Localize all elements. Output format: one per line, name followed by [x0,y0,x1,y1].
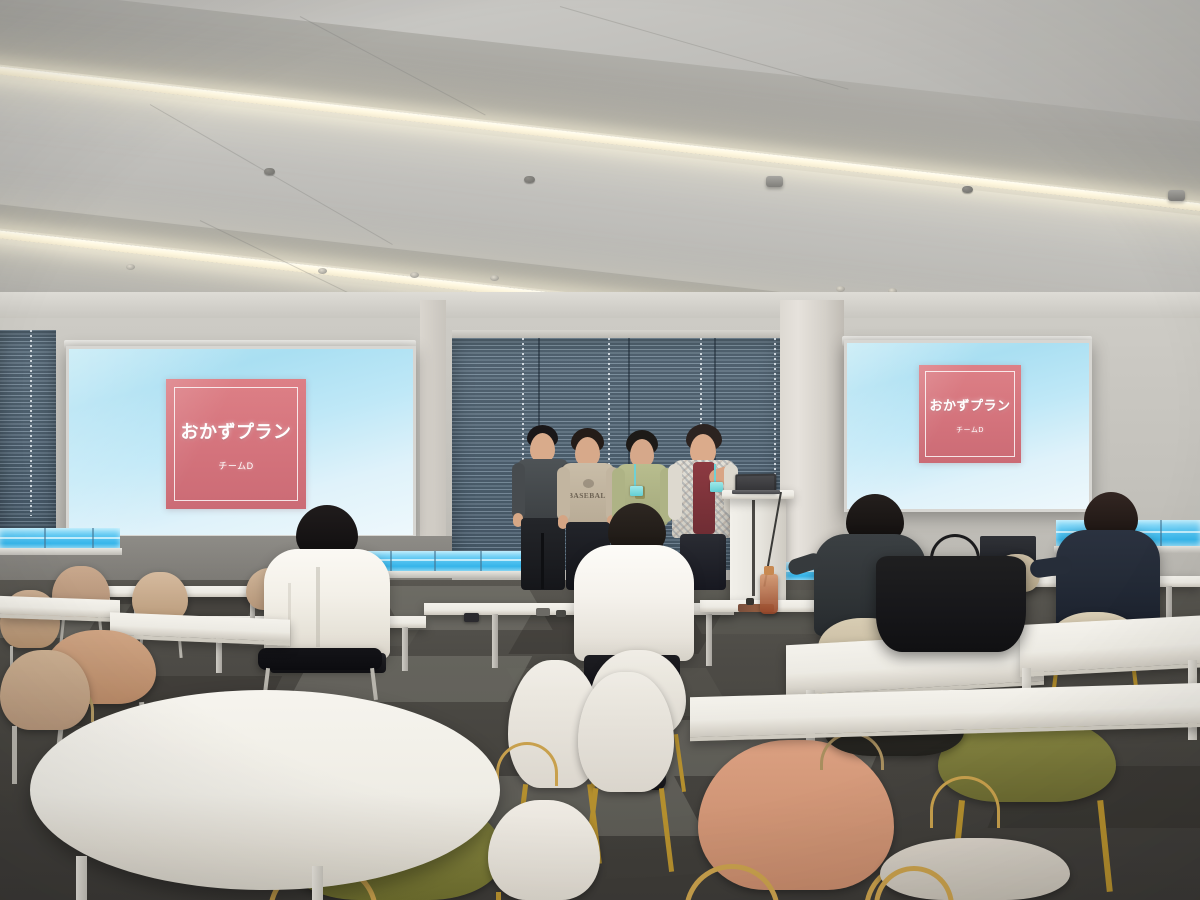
presenter-1-leg-gap [541,533,544,589]
laptop-base [732,490,780,494]
attendee-front-center-shirt [574,545,694,661]
presenter-1-arm-left [512,463,525,519]
table-leg [312,866,323,900]
slide-card-right: おかずプラン チームD [919,365,1021,463]
ceiling-downlight-2 [318,268,327,274]
presenter-2-shirt-text: BASEBALL [568,491,611,500]
table-left-small [0,596,120,622]
ceiling-speaker-2 [1168,190,1185,201]
sprinkler-head-1 [264,168,275,175]
slide-card-left: おかずプラン チームD [166,379,306,509]
ceiling [0,0,1200,300]
table-leg [706,614,712,666]
object-on-table-2 [556,610,566,617]
sprinkler-head-2 [524,176,535,183]
oval-table-foreground [30,690,500,890]
presenter-4-lanyard [714,464,716,484]
object-on-table-1 [536,608,550,616]
ceiling-downlight-4 [490,275,499,281]
black-tote-bag [876,556,1026,652]
drink-bottle-cap [764,566,774,575]
table-leg [76,856,87,900]
phone-on-table [464,613,479,622]
projection-screen-right: おかずプラン チームD [844,340,1092,512]
table-right-far [1020,615,1200,677]
slide-title-left: おかずプラン [181,418,292,444]
slide-subtitle-right: チームD [956,425,984,435]
window-blinds-left [0,330,56,536]
presenter-3-lanyard [634,464,636,488]
sprinkler-head-3 [962,186,973,193]
presenter-2-shirt-graphic [583,479,594,488]
structural-column-center [420,300,446,550]
window-sill-far-left [0,548,122,555]
wall-soffit [0,292,1200,318]
screen-surface-right: おかずプラン チームD [847,343,1089,509]
ceiling-speaker-1 [766,176,783,187]
podium-seam [752,500,755,596]
presenter-3-badge [630,486,643,496]
slide-subtitle-left: チームD [218,459,253,472]
window-strip-far-left [0,528,120,550]
drink-bottle [760,574,778,614]
table-leg [402,627,408,671]
ceiling-downlight-1 [126,264,135,270]
photo-scene: おかずプラン チームD おかずプラン チームD [0,0,1200,900]
slide-title-right: おかずプラン [929,395,1010,414]
object-on-table-4 [746,598,754,605]
table-leg [492,614,498,668]
presenter-2-arm-left [557,467,570,521]
ceiling-downlight-3 [410,272,419,278]
presenter-4-badge [710,482,723,492]
